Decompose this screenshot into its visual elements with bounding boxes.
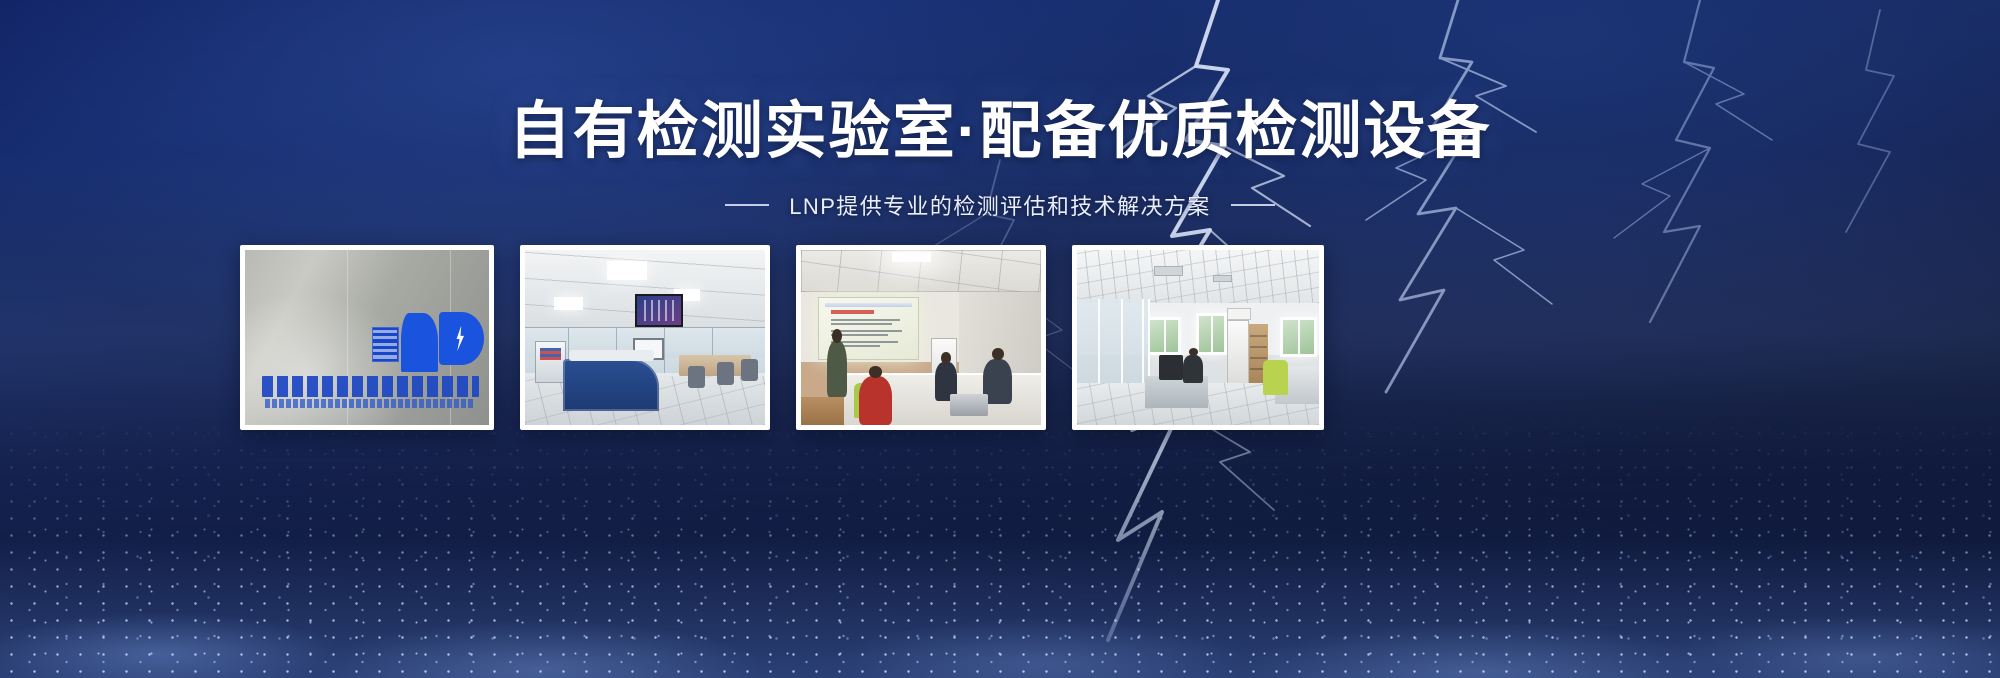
wall-display-icon	[635, 294, 683, 327]
hero-banner: 自有检测实验室·配备优质检测设备 LNP提供专业的检测评估和技术解决方案	[0, 0, 2000, 678]
photo-image-meeting-room	[801, 250, 1041, 425]
photo-image-laboratory	[525, 250, 765, 425]
page-title: 自有检测实验室·配备优质检测设备	[0, 96, 2000, 167]
gallery-photo-office[interactable]	[1072, 245, 1324, 430]
photo-image-logo-wall	[245, 250, 489, 425]
rule-left-icon	[725, 204, 769, 206]
gallery-photo-meeting-room[interactable]	[796, 245, 1046, 430]
gallery-photo-lnp-logo-wall[interactable]	[240, 245, 494, 430]
company-name-cn	[262, 376, 479, 397]
subtitle-row: LNP提供专业的检测评估和技术解决方案	[0, 189, 2000, 221]
photo-image-office	[1077, 250, 1319, 425]
photo-gallery	[240, 245, 1324, 430]
lnp-logo-icon	[372, 310, 484, 373]
company-name-en	[265, 399, 475, 408]
rule-right-icon	[1231, 204, 1275, 206]
city-bottom-glow	[0, 538, 2000, 678]
gallery-photo-laboratory[interactable]	[520, 245, 770, 430]
hero-text-block: 自有检测实验室·配备优质检测设备 LNP提供专业的检测评估和技术解决方案	[0, 96, 2000, 221]
page-subtitle: LNP提供专业的检测评估和技术解决方案	[789, 189, 1210, 221]
